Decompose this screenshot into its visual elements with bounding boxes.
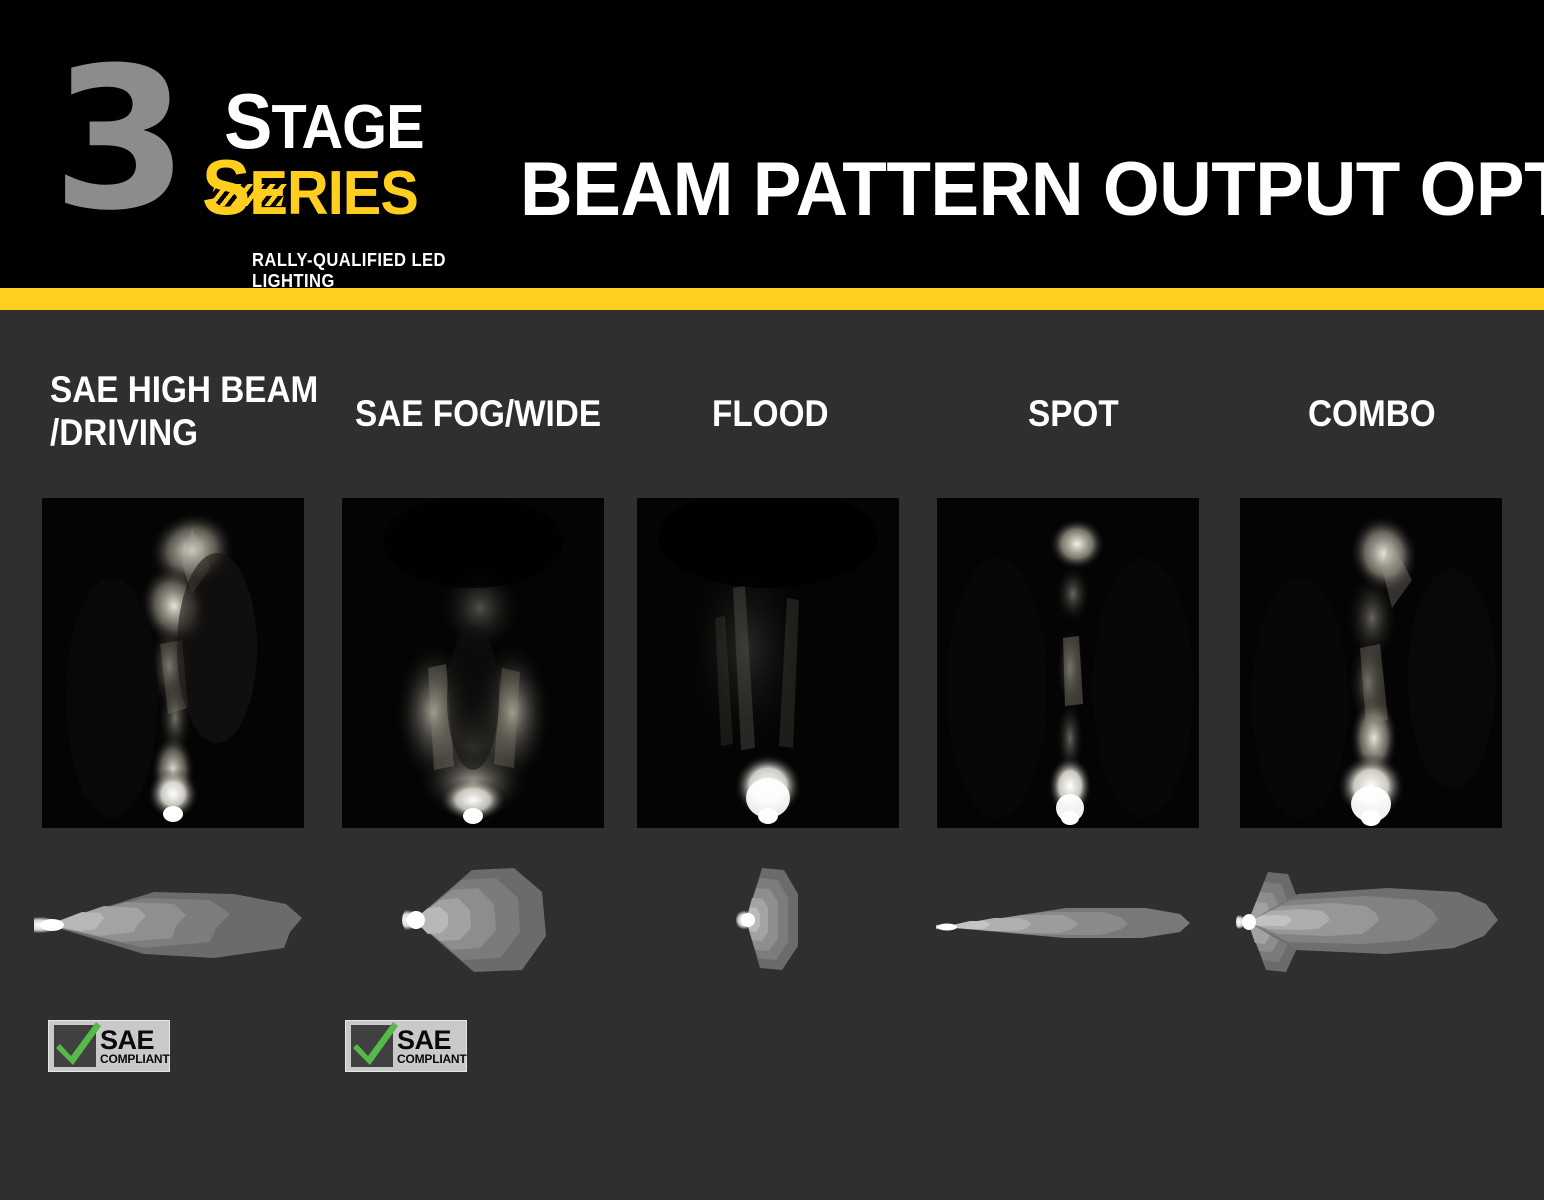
beam-photo-sae-fog-wide — [342, 498, 604, 828]
logo-word-series: SERIES — [202, 156, 418, 225]
column-label-flood: FLOOD — [712, 392, 829, 435]
beam-photo-combo — [1240, 498, 1502, 828]
sae-badge-sub-label: COMPLIANT — [100, 1053, 170, 1066]
column-label-sae-fog-wide: SAE FOG/WIDE — [355, 392, 601, 435]
beam-diagram-sae-high-beam-driving — [34, 870, 314, 980]
sae-badge-text: SAE COMPLIANT — [100, 1028, 170, 1066]
beam-photo-combo-image — [1240, 498, 1502, 828]
beam-photo-sae-fog-wide-image — [342, 498, 604, 828]
beam-diagram-sae-high-beam-driving-shape — [34, 870, 314, 980]
column-label-spot: SPOT — [1028, 392, 1119, 435]
sae-compliant-badge-sae-high-beam-driving: SAE COMPLIANT — [48, 1020, 170, 1072]
beam-comparison-grid: SAE HIGH BEAM /DRIVING SAE FOG/WIDE FLOO… — [0, 310, 1544, 1200]
beam-photo-sae-high-beam-driving — [42, 498, 304, 828]
beam-photo-sae-high-beam-driving-image — [42, 498, 304, 828]
page-header: 3 STAGE SERIES RALLY-QUALIFIED LED LIGHT… — [0, 0, 1544, 288]
beam-diagram-spot — [936, 890, 1202, 960]
brand-logo: 3 STAGE SERIES RALLY-QUALIFIED LED LIGHT… — [52, 52, 472, 232]
beam-diagram-flood — [722, 860, 822, 980]
beam-diagram-flood-shape — [722, 860, 822, 980]
beam-photo-flood-image — [637, 498, 899, 828]
page-title: BEAM PATTERN OUTPUT OPTIONS — [520, 152, 1544, 228]
logo-tagline: RALLY-QUALIFIED LED LIGHTING — [252, 250, 454, 292]
beam-diagram-spot-shape — [936, 890, 1202, 960]
sae-badge-main-label: SAE — [100, 1028, 170, 1053]
green-check-icon — [52, 1017, 104, 1069]
beam-photo-spot-image — [937, 498, 1199, 828]
sae-check-box — [351, 1025, 393, 1067]
sae-check-box — [54, 1025, 96, 1067]
beam-diagram-combo — [1226, 858, 1508, 984]
sae-badge-sub-label: COMPLIANT — [397, 1053, 467, 1066]
beam-photo-flood — [637, 498, 899, 828]
column-label-sae-high-beam-driving: SAE HIGH BEAM /DRIVING — [50, 368, 318, 454]
beam-diagram-combo-shape — [1226, 858, 1508, 984]
sae-compliant-badge-sae-fog-wide: SAE COMPLIANT — [345, 1020, 467, 1072]
logo-numeral-3: 3 — [52, 52, 182, 228]
beam-photo-spot — [937, 498, 1199, 828]
logo-series-rest: ERIES — [249, 159, 417, 228]
beam-diagram-sae-fog-wide-shape — [396, 858, 561, 983]
sae-badge-text: SAE COMPLIANT — [397, 1028, 467, 1066]
column-label-combo: COMBO — [1308, 392, 1436, 435]
logo-word-stage: STAGE — [224, 90, 424, 159]
accent-divider-bar — [0, 288, 1544, 310]
logo-stage-rest: TAGE — [271, 93, 423, 162]
beam-diagram-sae-fog-wide — [396, 858, 561, 983]
sae-badge-main-label: SAE — [397, 1028, 467, 1053]
logo-series-cap: S — [202, 143, 249, 231]
green-check-icon — [349, 1017, 401, 1069]
